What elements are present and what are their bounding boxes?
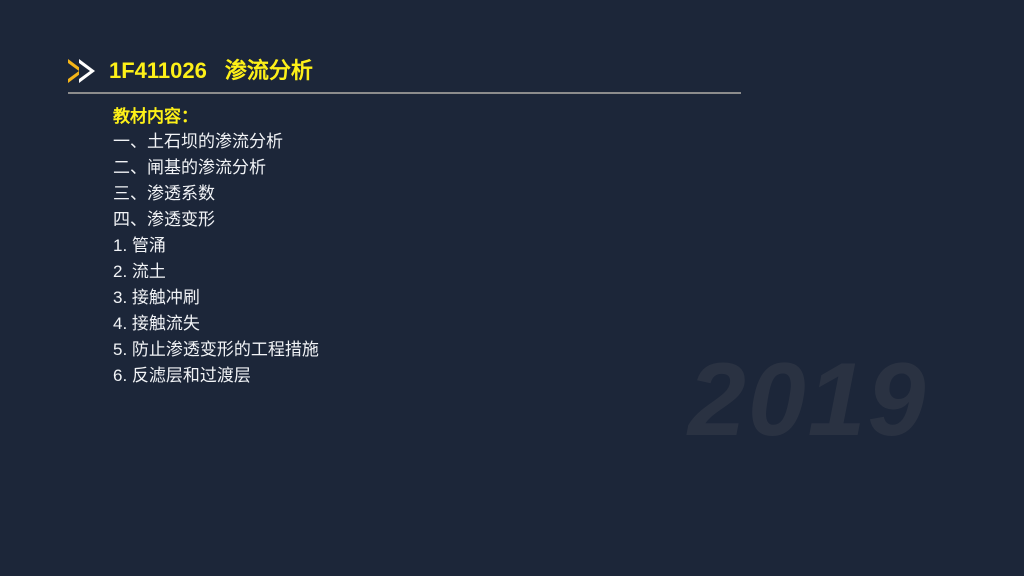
list-item: 6. 反滤层和过渡层: [113, 363, 813, 389]
chevron-right-icon: [79, 59, 95, 83]
title-divider: [68, 92, 741, 94]
list-item: 一、土石坝的渗流分析: [113, 129, 813, 155]
list-item: 三、渗透系数: [113, 181, 813, 207]
list-item: 5. 防止渗透变形的工程措施: [113, 337, 813, 363]
list-item: 3. 接触冲刷: [113, 285, 813, 311]
content-body: 教材内容： 一、土石坝的渗流分析 二、闸基的渗流分析 三、渗透系数 四、渗透变形…: [113, 105, 813, 389]
content-list: 一、土石坝的渗流分析 二、闸基的渗流分析 三、渗透系数 四、渗透变形 1. 管涌…: [113, 129, 813, 389]
list-item: 四、渗透变形: [113, 207, 813, 233]
list-item: 4. 接触流失: [113, 311, 813, 337]
slide-canvas: 2019 1F411026 渗流分析 教材内容： 一、土石坝的渗流分析 二、闸基…: [0, 0, 1024, 576]
slide-title-row: 1F411026 渗流分析: [68, 56, 313, 86]
slide-title-code: 1F411026: [109, 60, 207, 82]
title-bullet-icons: [68, 59, 95, 83]
list-item: 二、闸基的渗流分析: [113, 155, 813, 181]
list-item: 1. 管涌: [113, 233, 813, 259]
page-title: 渗流分析: [225, 60, 313, 82]
list-item: 2. 流土: [113, 259, 813, 285]
content-heading: 教材内容：: [113, 105, 813, 129]
